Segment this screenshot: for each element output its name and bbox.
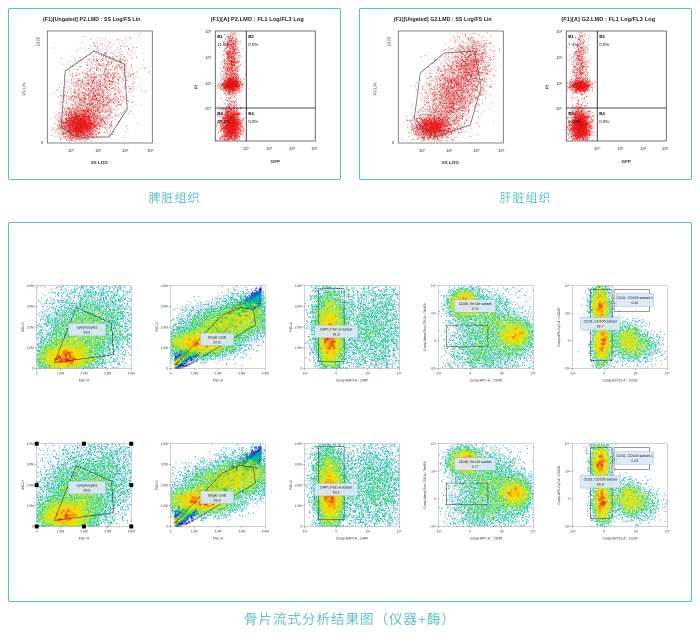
selection-handle[interactable]: [35, 483, 39, 487]
plot-ungated-p2: (F1)[Ungated] P2.LMD : SS Log/FS Lin 102…: [9, 9, 175, 179]
xtick-2: 10²: [640, 146, 647, 151]
plot-title: (F1)[A] G2.LMD : FL1 Log/FL3 Log: [526, 17, 692, 23]
density-plot-svg: 01.0M2.0M3.0M4.0M01.0M2.0M3.0M4.0MFSC-HS…: [15, 417, 149, 565]
selection-handle[interactable]: [35, 525, 39, 529]
xtick-3: 10³: [147, 148, 154, 153]
quadrant-b4-value: 0.0%: [599, 119, 609, 124]
selection-handle[interactable]: [82, 442, 86, 446]
xtick-1: 10¹: [446, 148, 453, 153]
plot-cell-2-1[interactable]: 01.0M2.0M3.0M4.0M01.0M2.0M3.0M4.0MFSC-HS…: [15, 417, 149, 565]
xtick-3: 10³: [311, 146, 318, 151]
gate-annotation: Single Cells93.8: [200, 491, 234, 504]
plot-row-2: 01.0M2.0M3.0M4.0M01.0M2.0M3.0M4.0MFSC-HS…: [15, 417, 685, 565]
xtick-3: 10³: [662, 146, 669, 151]
scatter-svg-p2-ss-fs: 1023 0 FS LIN 10⁰ 10¹ 10² 10³ SS LOG: [9, 9, 175, 181]
y-axis-label: PI: [544, 85, 549, 89]
data-points: [439, 443, 534, 527]
y-axis-label: FS LIN: [21, 82, 26, 95]
xtick-2: 10²: [473, 148, 480, 153]
gate-annotation: CD31, CD105 subset-10.23: [616, 452, 653, 465]
y-axis-label: PI: [193, 85, 198, 89]
xtick-2: 10²: [289, 146, 296, 151]
y-axis-label: FS LIN: [372, 82, 377, 95]
gate-annotation: CD45, Ter119 subset0.77: [454, 458, 495, 471]
quadrant-b4-value: 0.0%: [248, 119, 258, 124]
plot-cell-2-5[interactable]: -10³010³10⁵-10³010³10⁵Comp-BV711-A :: CD…: [551, 417, 685, 565]
ytick-3: 10³: [205, 29, 212, 34]
selection-handle[interactable]: [82, 525, 86, 529]
density-plot-svg: -10³010³10⁵01.0M2.0M3.0M4.0MComp-DAPI-A …: [283, 417, 417, 565]
density-plot-svg: 01.0M2.0M3.0M4.0M01.0M2.0M3.0M4.0MFSC-AF…: [149, 259, 283, 407]
plot-ungated-g2: (F1)[Ungated] G2.LMD : SS Log/FS Lin 102…: [360, 9, 526, 179]
xtick-3: 10³: [498, 148, 505, 153]
plot-cell-1-4[interactable]: -10³010³10⁵-10³010³10⁵Comp-APC-A :: CD45…: [417, 259, 551, 407]
plot-cell-1-2[interactable]: 01.0M2.0M3.0M4.0M01.0M2.0M3.0M4.0MFSC-AF…: [149, 259, 283, 407]
ytick-top: 1023: [386, 36, 391, 46]
xtick-0: 10⁰: [243, 146, 250, 151]
gate-annotation: CD45, Ter119 subset0.74: [454, 300, 495, 313]
caption-bone-chip: 骨片流式分析结果图（仪器+酶）: [0, 608, 700, 628]
ytick-1: 10¹: [556, 81, 563, 86]
density-plot-svg: 01.0M2.0M3.0M4.0M01.0M2.0M3.0M4.0MFSC-AF…: [149, 417, 283, 565]
selection-handle[interactable]: [35, 442, 39, 446]
quadrant-b2-label: B2: [248, 34, 254, 39]
top-panel-row: (F1)[Ungated] P2.LMD : SS Log/FS Lin 102…: [0, 0, 700, 180]
xtick-1: 10¹: [617, 146, 624, 151]
density-plot-svg: -10³010³10⁵-10³010³10⁵Comp-BV711-A :: CD…: [551, 417, 685, 565]
density-plot-svg: -10³010³10⁵-10³010³10⁵Comp-APC-A :: CD45…: [417, 259, 551, 407]
quadrant-svg-g2: B1 7.4% B2 0.0% B3 92.6% B4 0.0% 10³ 10²…: [526, 9, 692, 181]
caption-spleen: 脾脏组织: [8, 180, 341, 206]
plot-title: (F1)[Ungated] P2.LMD : SS Log/FS Lin: [9, 17, 175, 23]
ytick-0: 10⁰: [204, 106, 211, 111]
quadrant-b4-label: B4: [599, 111, 605, 116]
xtick-0: 10⁰: [594, 146, 601, 151]
scatter-svg-g2-ss-fs: 1023 0 FS LIN 10⁰ 10¹ 10² 10³ SS LOG: [360, 9, 526, 181]
tissue-panel-spleen: (F1)[Ungated] P2.LMD : SS Log/FS Lin 102…: [8, 8, 341, 180]
quadrant-b4-label: B4: [248, 111, 254, 116]
ytick-1: 10¹: [205, 81, 212, 86]
ytick-0: 10⁰: [555, 106, 562, 111]
xtick-1: 10¹: [266, 146, 273, 151]
xtick-0: 10⁰: [419, 148, 426, 153]
gate-annotation: CD31, CD105 subset-10.20: [616, 294, 653, 307]
plot-a-g2-fl1-fl3: (F1)[A] G2.LMD : FL1 Log/FL3 Log B1 7.4%…: [526, 9, 692, 179]
plot-title: (F1)[Ungated] G2.LMD : SS Log/FS Lin: [360, 17, 526, 23]
quadrant-b1-label: B1: [217, 34, 223, 39]
selection-handle[interactable]: [129, 525, 133, 529]
tissue-captions-row: 脾脏组织 肝脏组织: [0, 180, 700, 206]
tissue-panel-liver: (F1)[Ungated] G2.LMD : SS Log/FS Lin 102…: [359, 8, 692, 180]
x-axis-label: SS LOG: [442, 160, 460, 165]
ytick-2: 10²: [556, 55, 563, 60]
bone-chip-analysis-panel: 01.0M2.0M3.0M4.0M01.0M2.0M3.0M4.0MFSC-HS…: [8, 222, 692, 602]
plot-cell-1-3[interactable]: -10³010³10⁵01.0M2.0M3.0M4.0MComp-DAPI-A …: [283, 259, 417, 407]
quadrant-b3-value: 88.1%: [217, 119, 230, 124]
density-plot-svg: 01.0M2.0M3.0M4.0M01.0M2.0M3.0M4.0MFSC-HS…: [15, 259, 149, 407]
plot-row-1: 01.0M2.0M3.0M4.0M01.0M2.0M3.0M4.0MFSC-HS…: [15, 259, 685, 407]
selection-handle[interactable]: [129, 483, 133, 487]
quadrant-b3-value: 92.6%: [568, 119, 581, 124]
plot-cell-2-2[interactable]: 01.0M2.0M3.0M4.0M01.0M2.0M3.0M4.0MFSC-AF…: [149, 417, 283, 565]
xtick-0: 10⁰: [68, 148, 75, 153]
density-plot-svg: -10³010³10⁵-10³010³10⁵Comp-BV711-A :: CD…: [551, 259, 685, 407]
gate-annotation: Single Cells87.6: [200, 333, 234, 346]
quadrant-b2-value: 0.0%: [599, 42, 609, 47]
density-plot-svg: -10³010³10⁵01.0M2.0M3.0M4.0MComp-DAPI-A …: [283, 259, 417, 407]
plot-cell-1-5[interactable]: -10³010³10⁵-10³010³10⁵Comp-BV711-A :: CD…: [551, 259, 685, 407]
ytick-2: 10²: [205, 55, 212, 60]
plot-cell-2-4[interactable]: -10³010³10⁵-10³010³10⁵Comp-APC-A :: CD45…: [417, 417, 551, 565]
quadrant-svg-p2: B1 11.9% B2 0.0% B3 88.1% B4 0.0% 10³ 10…: [175, 9, 341, 181]
data-points: [438, 285, 533, 369]
plot-title: (F1)[A] P2.LMD : FL1 Log/FL3 Log: [175, 17, 341, 23]
gate-annotation: DAPI, FSC-A subset91.6: [315, 325, 358, 338]
gate-annotation: Lymphocytes93.6: [68, 323, 105, 336]
quadrant-b3-label: B3: [217, 111, 223, 116]
xtick-2: 10²: [122, 148, 129, 153]
ytick-3: 10³: [556, 29, 563, 34]
gate-annotation: CD31, CD105 subset90.8: [581, 475, 620, 488]
plot-cell-2-3[interactable]: -10³010³10⁵01.0M2.0M3.0M4.0MComp-DAPI-A …: [283, 417, 417, 565]
plot-cell-1-1[interactable]: 01.0M2.0M3.0M4.0M01.0M2.0M3.0M4.0MFSC-HS…: [15, 259, 149, 407]
ytick-top: 1023: [35, 36, 40, 46]
plot-grid: 01.0M2.0M3.0M4.0M01.0M2.0M3.0M4.0MFSC-HS…: [9, 223, 691, 601]
x-axis-label: GFP: [270, 159, 279, 164]
caption-liver: 肝脏组织: [359, 180, 692, 206]
plot-a-p2-fl1-fl3: (F1)[A] P2.LMD : FL1 Log/FL3 Log B1 11.9…: [175, 9, 341, 179]
density-plot-svg: -10³010³10⁵-10³010³10⁵Comp-APC-A :: CD45…: [417, 417, 551, 565]
gate-annotation: CD31, CD105 subset92.7: [581, 317, 620, 330]
selection-handle[interactable]: [129, 442, 133, 446]
ytick-bottom: 0: [41, 140, 44, 145]
quadrant-b2-value: 0.0%: [248, 42, 258, 47]
xtick-1: 10¹: [95, 148, 102, 153]
quadrant-b1-value: 7.4%: [568, 42, 578, 47]
gate-annotation: Lymphocytes90.6: [68, 481, 105, 494]
quadrant-b2-label: B2: [599, 34, 605, 39]
x-axis-label: SS LOG: [91, 160, 109, 165]
quadrant-b1-value: 11.9%: [217, 42, 229, 47]
quadrant-b1-label: B1: [568, 34, 574, 39]
quadrant-b3-label: B3: [568, 111, 574, 116]
ytick-bottom: 0: [392, 140, 395, 145]
x-axis-label: GFP: [621, 159, 630, 164]
gate-annotation: DAPI, FSC-A subset93.2: [315, 483, 358, 496]
